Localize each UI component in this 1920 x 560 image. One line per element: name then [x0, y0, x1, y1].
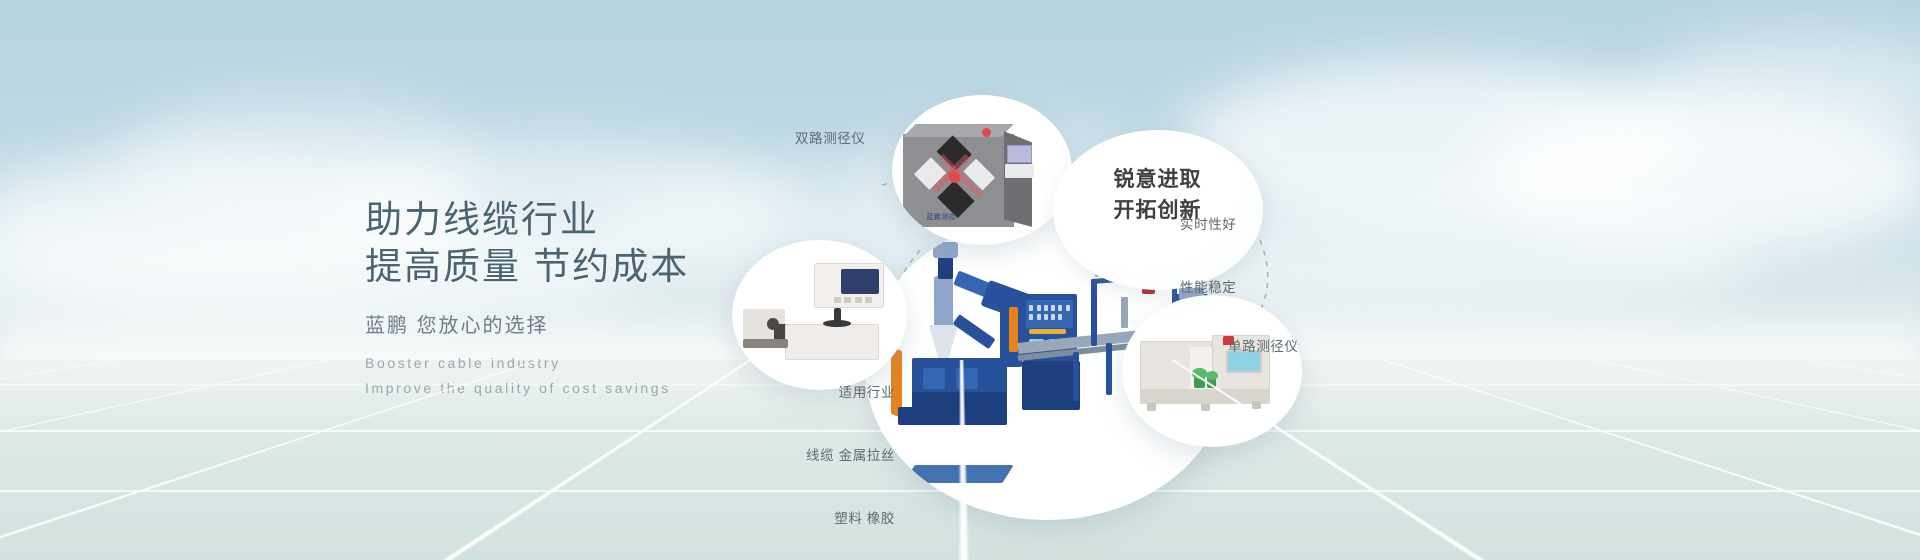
label-features: 实时性好 性能稳定: [1180, 172, 1236, 340]
feature-line-1: 实时性好: [1180, 214, 1236, 235]
industry-line-2: 塑料 橡胶: [720, 508, 895, 529]
device-brand-label: 蓝鹏测控: [926, 212, 956, 222]
hero-banner: 助力线缆行业 提高质量 节约成本 蓝鹏 您放心的选择 Booster cable…: [0, 0, 1920, 560]
label-single-gauge: 单路测径仪: [1228, 336, 1299, 357]
dual-gauge-photo[interactable]: 蓝鹏测控: [892, 95, 1072, 245]
label-industries: 适用行业 线缆 金属拉丝 塑料 橡胶: [720, 340, 895, 560]
product-composition: 蓝鹏测控: [860, 0, 1920, 560]
industry-line-1: 线缆 金属拉丝: [720, 445, 895, 466]
industry-title: 适用行业: [720, 382, 895, 403]
feature-line-2: 性能稳定: [1180, 277, 1236, 298]
label-dual-gauge: 双路测径仪: [795, 128, 866, 149]
dual-gauge-illustration: 蓝鹏测控: [892, 95, 1072, 245]
